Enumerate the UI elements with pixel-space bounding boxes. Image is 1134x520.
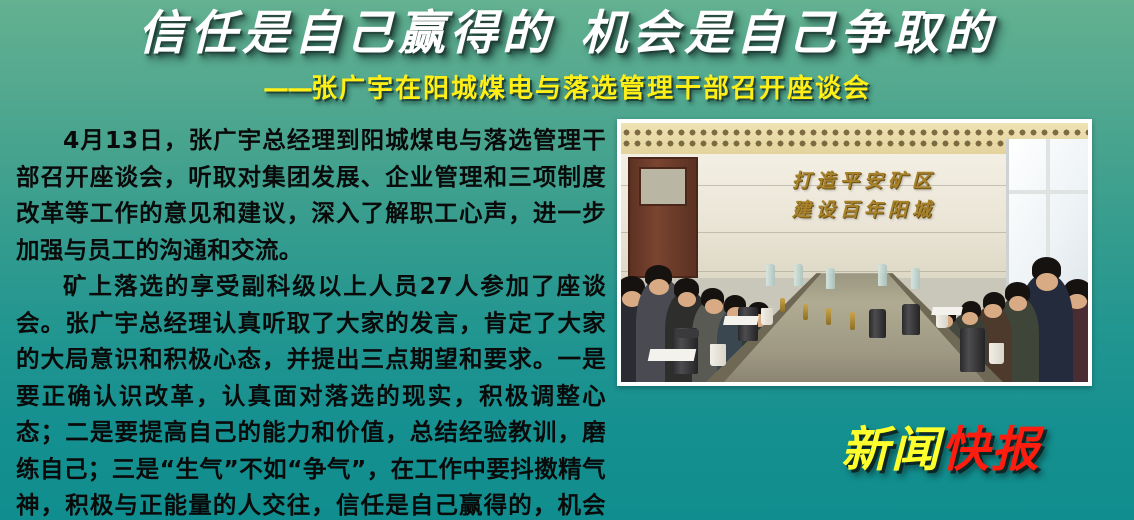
sub-title: ——张广宇在阳城煤电与落选管理干部召开座谈会 bbox=[0, 68, 1134, 105]
main-title-part2: 机会是自己争取的 bbox=[580, 6, 996, 61]
photo-microphone bbox=[826, 308, 831, 325]
photo-paper-cup bbox=[710, 344, 726, 366]
brand-part-news: 新闻 bbox=[841, 422, 941, 478]
article-paragraph-1: 4月13日，张广宇总经理到阳城煤电与落选管理干部召开座谈会，听取对集团发展、企业… bbox=[16, 122, 606, 268]
photo-water-bottle bbox=[826, 268, 835, 289]
photo-water-bottle bbox=[878, 264, 887, 286]
photo-paper-cup bbox=[989, 343, 1004, 364]
photo-microphone bbox=[780, 298, 785, 312]
photo-person-head bbox=[678, 292, 696, 307]
photo-water-bottle bbox=[911, 268, 920, 289]
photo-vacuum-flask bbox=[960, 328, 985, 372]
sub-title-dash: —— bbox=[263, 74, 311, 104]
brand-logo: 新闻快报 bbox=[841, 410, 1041, 480]
meeting-photo: 打造平安矿区 建设百年阳城 bbox=[621, 123, 1088, 382]
photo-water-bottle bbox=[766, 264, 775, 286]
article-body: 4月13日，张广宇总经理到阳城煤电与落选管理干部召开座谈会，听取对集团发展、企业… bbox=[16, 122, 606, 520]
photo-document bbox=[723, 316, 759, 325]
photo-person-head bbox=[1009, 296, 1027, 311]
photo-microphone bbox=[803, 304, 808, 320]
meeting-photo-frame: 打造平安矿区 建设百年阳城 bbox=[617, 119, 1092, 386]
photo-water-bottle bbox=[794, 264, 803, 286]
photo-paper-cup bbox=[761, 308, 773, 325]
main-title-part1: 信任是自己赢得的 bbox=[138, 6, 554, 61]
photo-wall-calligraphy: 打造平安矿区 建设百年阳城 bbox=[747, 167, 981, 224]
photo-window-mullion-horizontal bbox=[1009, 190, 1088, 194]
photo-person-head bbox=[705, 299, 723, 314]
photo-flask-lid bbox=[677, 329, 699, 338]
news-poster: 信任是自己赢得的机会是自己争取的 ——张广宇在阳城煤电与落选管理干部召开座谈会 … bbox=[0, 0, 1134, 520]
brand-part-express: 快报 bbox=[941, 422, 1041, 478]
main-title: 信任是自己赢得的机会是自己争取的 bbox=[0, 8, 1134, 61]
article-paragraph-2: 矿上落选的享受副科级以上人员27人参加了座谈会。张广宇总经理认真听取了大家的发言… bbox=[16, 268, 606, 520]
photo-document bbox=[931, 307, 963, 315]
photo-person-head bbox=[1036, 273, 1058, 290]
sub-title-text: 张广宇在阳城煤电与落选管理干部召开座谈会 bbox=[311, 74, 871, 104]
photo-microphone bbox=[850, 312, 855, 330]
poster-header: 信任是自己赢得的机会是自己争取的 ——张广宇在阳城煤电与落选管理干部召开座谈会 bbox=[0, 0, 1134, 108]
photo-vacuum-flask bbox=[869, 309, 886, 338]
photo-person-head bbox=[649, 279, 669, 295]
photo-wall-calligraphy-line1: 打造平安矿区 bbox=[747, 167, 981, 196]
photo-document bbox=[648, 349, 697, 361]
photo-vacuum-flask bbox=[902, 304, 920, 335]
photo-wall-calligraphy-line2: 建设百年阳城 bbox=[747, 196, 981, 225]
photo-door-glass bbox=[639, 167, 687, 206]
